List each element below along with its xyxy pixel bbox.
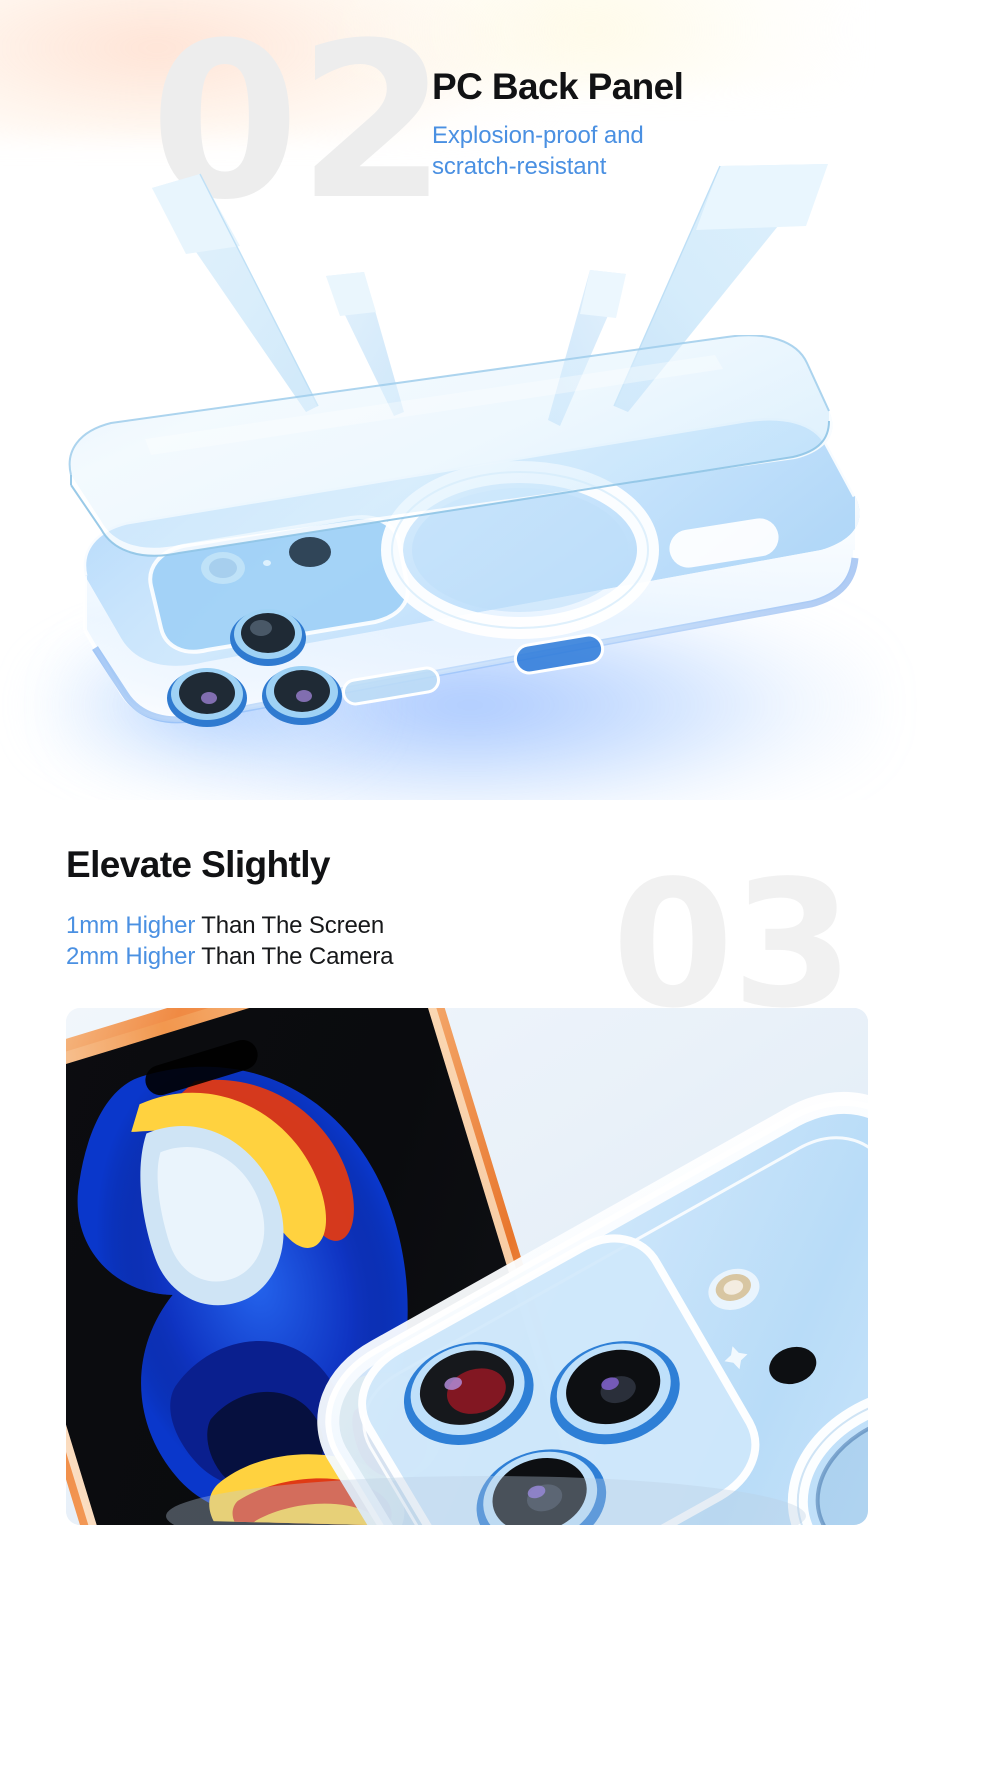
page-title-elevate-slightly: Elevate Slightly (66, 845, 686, 886)
section-02-subtitle-line1: Explosion-proof and (432, 122, 644, 149)
page-title-pc-back-panel: PC Back Panel (432, 66, 952, 107)
section-03-bullet-list: 1mm Higher Than The Screen 2mm Higher Th… (66, 910, 686, 972)
section-03-heading-block: Elevate Slightly 1mm Higher Than The Scr… (66, 845, 686, 972)
bullet-camera-rest: Than The Camera (195, 943, 393, 970)
bullet-camera-clearance: 2mm Higher Than The Camera (66, 941, 686, 972)
product-image-pc-back-panel (0, 150, 1000, 780)
bullet-screen-rest: Than The Screen (195, 912, 384, 939)
bullet-camera-highlight: 2mm Higher (66, 943, 195, 970)
section-elevate-slightly: 03 Elevate Slightly 1mm Higher Than The … (0, 800, 1000, 1777)
glass-back-panel (55, 335, 855, 695)
section-pc-back-panel: 02 PC Back Panel Explosion-proof andscra… (0, 0, 1000, 800)
bullet-screen-highlight: 1mm Higher (66, 912, 195, 939)
bullet-screen-clearance: 1mm Higher Than The Screen (66, 910, 686, 941)
product-image-elevate-slightly (66, 1008, 868, 1525)
